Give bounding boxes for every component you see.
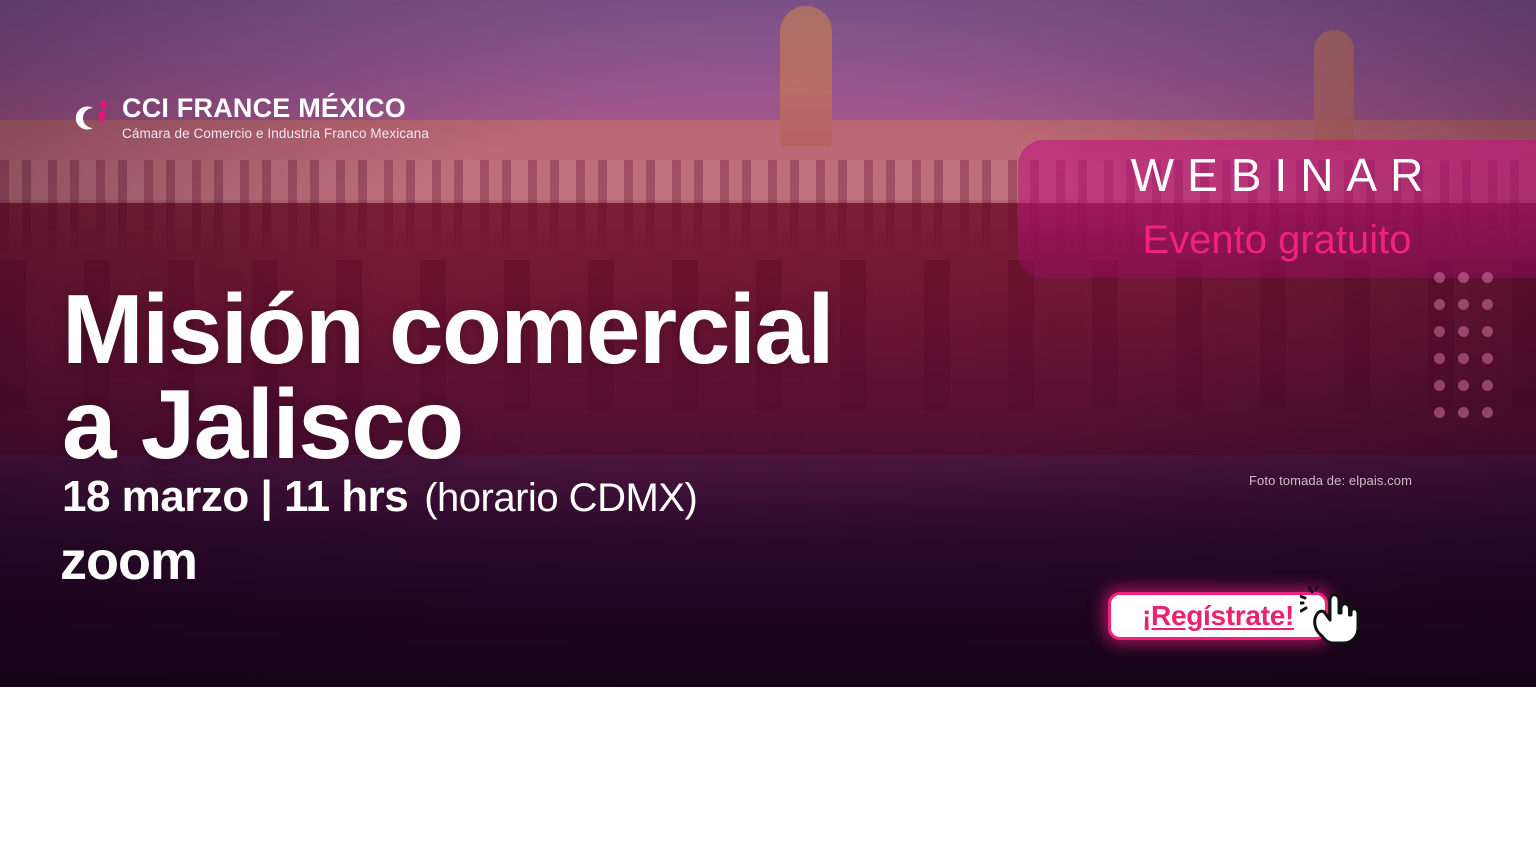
- event-timezone-note: (horario CDMX): [424, 476, 697, 521]
- cci-logo: CCI FRANCE MÉXICO Cámara de Comercio e I…: [60, 92, 429, 144]
- event-datetime: 18 marzo | 11 hrs (horario CDMX): [62, 472, 697, 522]
- cci-monogram-icon: [60, 92, 112, 144]
- register-button-label: ¡Regístrate!: [1142, 600, 1294, 632]
- webinar-badge: WEBINAR Evento gratuito: [1018, 140, 1536, 278]
- page-title: Misión comercial a Jalisco: [62, 282, 833, 472]
- footer-partner-band: COMUNIDAD que promueve: [0, 687, 1536, 864]
- cci-logo-title: CCI FRANCE MÉXICO: [122, 95, 429, 122]
- cci-logo-text: CCI FRANCE MÉXICO Cámara de Comercio e I…: [122, 95, 429, 141]
- hero-banner: CCI FRANCE MÉXICO Cámara de Comercio e I…: [0, 0, 1536, 687]
- photo-credit: Foto tomada de: elpais.com: [1249, 473, 1412, 488]
- free-event-label: Evento gratuito: [1018, 218, 1536, 263]
- click-hand-cursor-icon: [1300, 586, 1364, 644]
- register-button[interactable]: ¡Regístrate!: [1108, 592, 1328, 640]
- webinar-promo-poster: CCI FRANCE MÉXICO Cámara de Comercio e I…: [0, 0, 1536, 864]
- dot-grid-pattern: [1434, 272, 1506, 434]
- webinar-label: WEBINAR: [1018, 148, 1536, 202]
- cci-logo-subtitle: Cámara de Comercio e Industria Franco Me…: [122, 127, 429, 141]
- register-cta-group: ¡Regístrate!: [1108, 592, 1328, 640]
- event-date-time: 18 marzo | 11 hrs: [62, 472, 408, 522]
- zoom-platform-logo: zoom: [60, 534, 197, 588]
